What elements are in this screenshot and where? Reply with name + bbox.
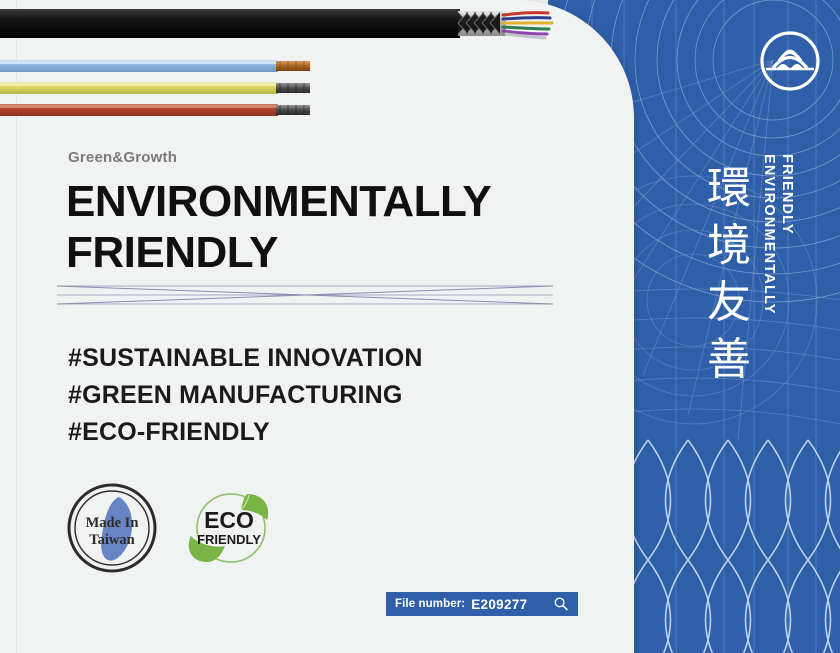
white-content-card: Green&Growth ENVIRONMENTALLY FRIENDLY #S… [0, 0, 634, 653]
divider-lines [55, 272, 555, 318]
cable-product-illustration [0, 0, 560, 130]
badge-text-line-1: Made In [86, 515, 139, 531]
eco-text-line-2: FRIENDLY [197, 532, 261, 547]
company-logo-icon [759, 30, 821, 92]
list-item: #SUSTAINABLE INNOVATION [68, 340, 423, 377]
list-item: #ECO-FRIENDLY [68, 414, 423, 451]
eco-friendly-badge: ECO FRIENDLY [177, 486, 285, 570]
list-item: #GREEN MANUFACTURING [68, 377, 423, 414]
poster-root: 環境友善 ENVIRONMENTALLY FRIENDLY [0, 0, 840, 653]
file-number-label: File number: [395, 598, 465, 610]
badge-text-line-2: Taiwan [89, 532, 134, 548]
headline-line-1: ENVIRONMENTALLY [66, 176, 586, 227]
page-title: ENVIRONMENTALLY FRIENDLY [66, 176, 586, 278]
file-number-bar[interactable]: File number: E209277 [386, 592, 578, 616]
vertical-en-line-1: ENVIRONMENTALLY [761, 154, 777, 315]
magnifier-icon[interactable] [553, 596, 569, 612]
eco-text-line-1: ECO [204, 507, 254, 533]
vertical-english-text: ENVIRONMENTALLY FRIENDLY [745, 150, 815, 380]
eyebrow-label: Green&Growth [68, 149, 177, 166]
made-in-taiwan-badge: Made In Taiwan [64, 482, 160, 574]
file-number-value: E209277 [471, 597, 527, 612]
headline-line-2: FRIENDLY [66, 227, 586, 278]
vertical-en-line-2: FRIENDLY [779, 154, 795, 235]
hashtag-list: #SUSTAINABLE INNOVATION #GREEN MANUFACTU… [68, 340, 423, 451]
